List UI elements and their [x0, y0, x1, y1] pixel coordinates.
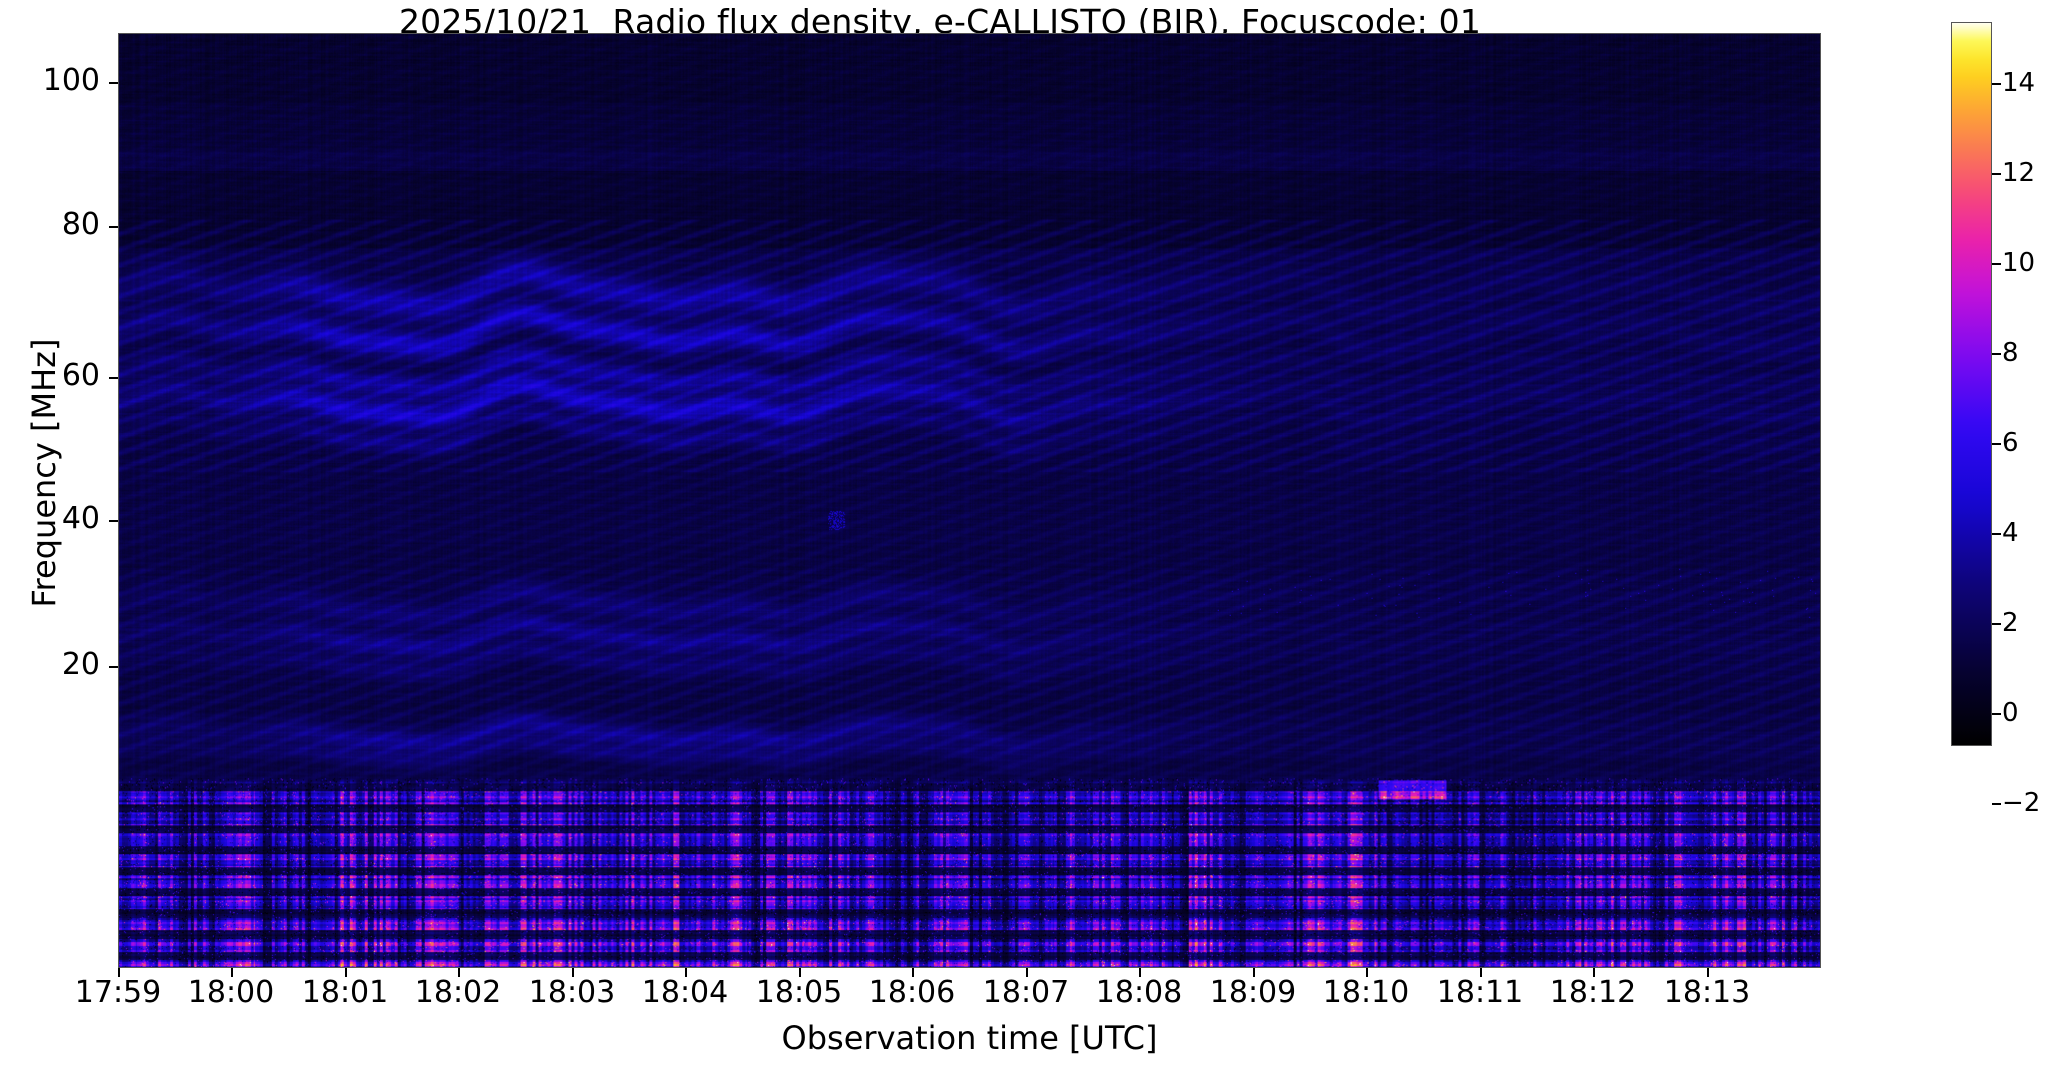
spectrogram-image	[119, 34, 1820, 967]
colorbar-tick-mark	[1992, 443, 2001, 445]
colorbar-tick-mark	[1992, 353, 2001, 355]
y-tick-mark	[109, 82, 118, 84]
colorbar-tick-mark	[1992, 533, 2001, 535]
colorbar-gradient	[1952, 23, 1991, 745]
colorbar-tick-mark	[1992, 263, 2001, 265]
x-tick-label: 18:08	[1096, 975, 1182, 1010]
colorbar	[1951, 22, 1992, 746]
x-tick-label: 18:00	[188, 975, 274, 1010]
x-tick-label: 18:01	[302, 975, 388, 1010]
colorbar-tick-label: −2	[2002, 788, 2040, 818]
x-tick-label: 18:05	[756, 975, 842, 1010]
x-tick-label: 18:06	[869, 975, 955, 1010]
y-tick-mark	[109, 520, 118, 522]
colorbar-tick-label: 8	[2002, 338, 2019, 368]
colorbar-tick-mark	[1992, 173, 2001, 175]
colorbar-tick-label: 0	[2002, 698, 2019, 728]
colorbar-tick-label: 2	[2002, 608, 2019, 638]
y-tick-label: 80	[0, 207, 100, 242]
x-tick-label: 18:07	[983, 975, 1069, 1010]
spectrogram-plot-area	[118, 33, 1821, 968]
colorbar-tick-label: 10	[2002, 248, 2035, 278]
colorbar-tick-mark	[1992, 83, 2001, 85]
y-tick-label: 100	[0, 63, 100, 98]
x-tick-label: 18:04	[642, 975, 728, 1010]
colorbar-tick-mark	[1992, 803, 2001, 805]
y-tick-mark	[109, 226, 118, 228]
x-tick-label: 17:59	[75, 975, 161, 1010]
x-tick-label: 18:10	[1323, 975, 1409, 1010]
x-tick-label: 18:12	[1550, 975, 1636, 1010]
x-tick-label: 18:03	[529, 975, 615, 1010]
y-tick-mark	[109, 666, 118, 668]
y-tick-mark	[109, 377, 118, 379]
colorbar-tick-label: 12	[2002, 158, 2035, 188]
colorbar-tick-label: 14	[2002, 68, 2035, 98]
spectrogram-figure: 2025/10/21 Radio flux density, e-CALLIST…	[0, 0, 2066, 1067]
y-tick-label: 20	[0, 647, 100, 682]
x-tick-label: 18:02	[415, 975, 501, 1010]
y-axis-label: Frequency [MHz]	[25, 283, 63, 663]
colorbar-tick-mark	[1992, 713, 2001, 715]
colorbar-tick-label: 6	[2002, 428, 2019, 458]
x-tick-label: 18:09	[1210, 975, 1296, 1010]
y-tick-label: 60	[0, 358, 100, 393]
colorbar-tick-mark	[1992, 623, 2001, 625]
y-tick-label: 40	[0, 501, 100, 536]
x-tick-label: 18:11	[1437, 975, 1523, 1010]
x-axis-label: Observation time [UTC]	[118, 1019, 1821, 1057]
x-tick-label: 18:13	[1664, 975, 1750, 1010]
colorbar-tick-label: 4	[2002, 518, 2019, 548]
